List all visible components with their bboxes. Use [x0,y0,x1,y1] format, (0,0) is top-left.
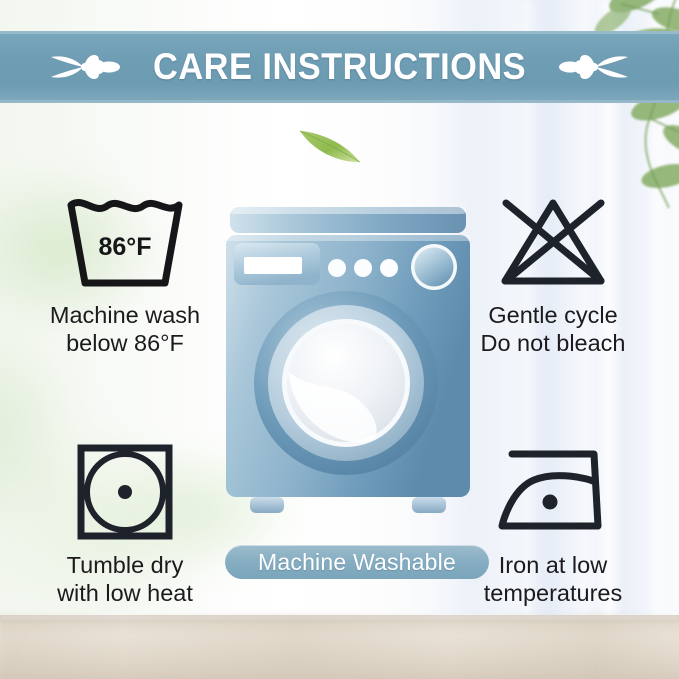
wash-tub-icon: 86°F [65,193,185,291]
care-item-tumble-dry: Tumble dry with low heat [10,440,240,607]
page-title: CARE INSTRUCTIONS [153,46,526,88]
wash-temperature-label: 86°F [98,233,151,261]
care-caption-iron: Iron at low temperatures [484,552,622,607]
tumble-dry-icon-wrap [75,440,175,544]
care-caption-gentle-cycle: Gentle cycle Do not bleach [480,302,625,357]
indicator-light-2 [354,259,372,277]
fleur-de-lis-icon-right [558,45,632,89]
control-knob [415,248,454,287]
care-item-machine-wash: 86°F Machine wash below 86°F [10,190,240,357]
washing-machine-illustration [222,205,474,535]
care-instructions-graphic: CARE INSTRUCTIONS [0,0,679,679]
tumble-dry-icon [75,442,175,542]
machine-foot-left [250,497,284,513]
care-caption-machine-wash: Machine wash below 86°F [50,302,200,357]
detergent-drawer-slot [244,257,302,274]
wash-tub-icon-wrap: 86°F [65,190,185,294]
indicator-light-3 [380,259,398,277]
indicator-light-1 [328,259,346,277]
header-banner: CARE INSTRUCTIONS [0,31,679,103]
machine-washable-badge: Machine Washable [225,545,489,579]
crossed-triangle-icon [493,193,613,291]
fleur-de-lis-icon-left [47,45,121,89]
wooden-table-grain [0,615,679,679]
care-caption-tumble-dry: Tumble dry with low heat [57,552,193,607]
machine-foot-right [412,497,446,513]
machine-washable-label: Machine Washable [258,549,456,576]
iron-icon [494,446,612,538]
floating-leaf-icon [296,118,366,170]
iron-icon-wrap [494,440,612,544]
crossed-triangle-icon-wrap [493,190,613,294]
